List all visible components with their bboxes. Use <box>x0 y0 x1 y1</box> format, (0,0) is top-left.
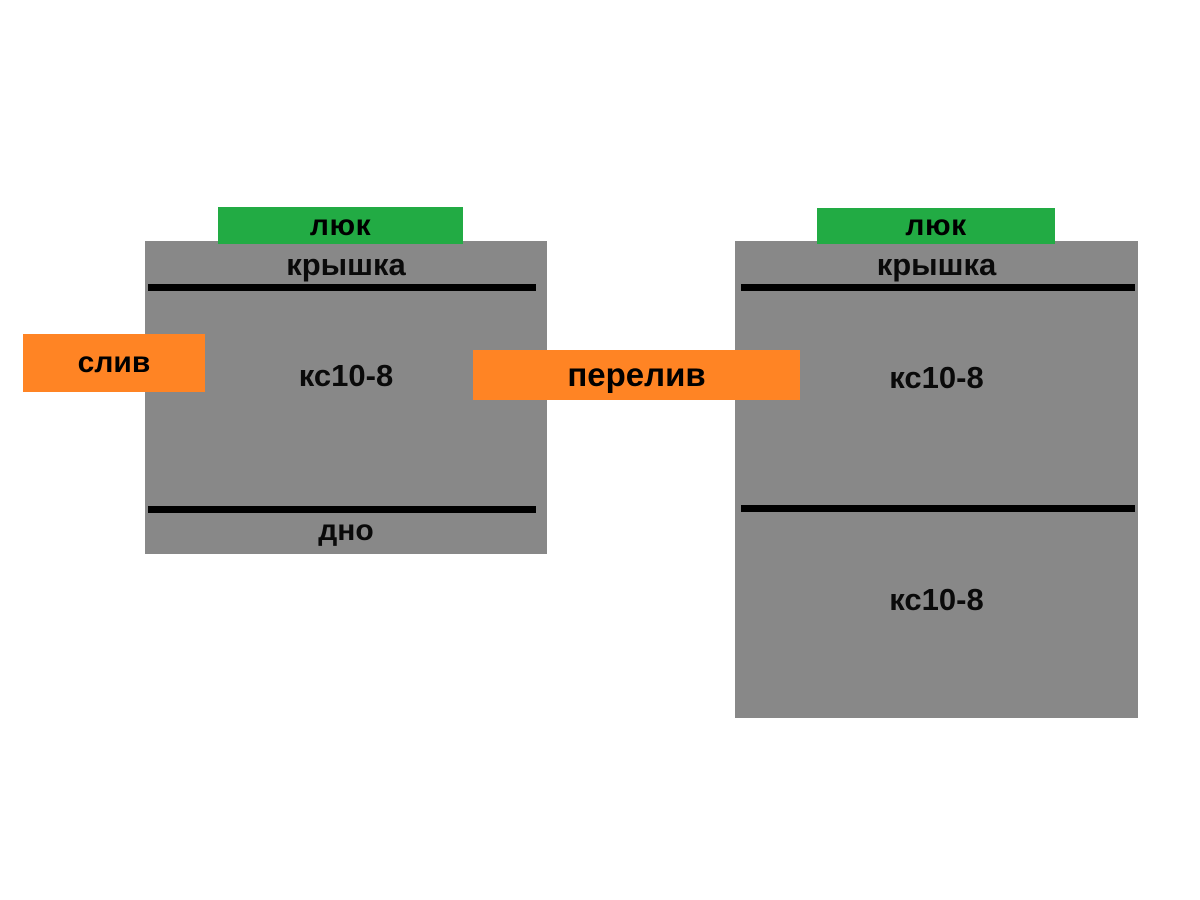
tank-right-ring-divider-line <box>741 505 1135 512</box>
tank-left-cover-label: крышка <box>145 247 547 283</box>
tank-right-body <box>735 241 1138 718</box>
tank-left-hatch[interactable]: люк <box>218 207 463 244</box>
drain-pipe-label: слив <box>78 346 151 380</box>
tank-right-cover-label: крышка <box>735 247 1138 283</box>
tank-right-lower-ring-label: кс10-8 <box>735 582 1138 618</box>
tank-right-hatch-label: люк <box>905 209 966 243</box>
overflow-pipe[interactable]: перелив <box>473 350 800 400</box>
diagram-canvas: люк крышка кс10-8 дно люк крышка кс10-8 … <box>0 0 1200 900</box>
tank-left-bottom-divider-line <box>148 506 536 513</box>
tank-right-hatch[interactable]: люк <box>817 208 1055 244</box>
tank-left-bottom-label: дно <box>145 514 547 548</box>
tank-left-hatch-label: люк <box>310 209 371 243</box>
overflow-pipe-label: перелив <box>567 356 705 394</box>
drain-pipe[interactable]: слив <box>23 334 205 392</box>
tank-right-cover-divider-line <box>741 284 1135 291</box>
tank-left-cover-divider-line <box>148 284 536 291</box>
